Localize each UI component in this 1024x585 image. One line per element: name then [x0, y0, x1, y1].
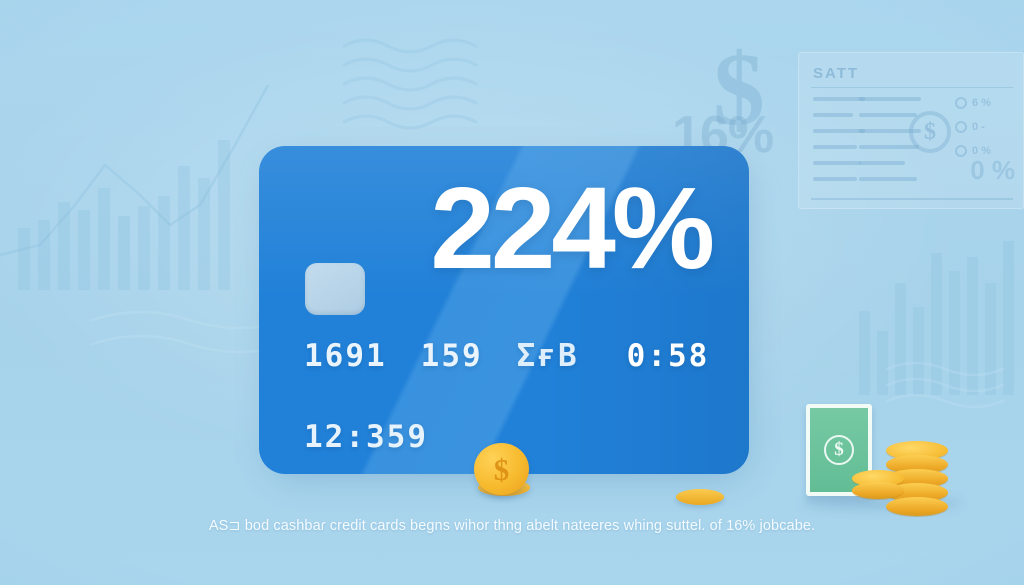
card-number-segment-4: 0:58	[627, 338, 710, 374]
card-chip-icon	[305, 263, 365, 315]
illustration-canvas: $ 16% SATT $ 6 %	[0, 0, 1024, 585]
report-panel-dollar-coin-icon: $	[909, 111, 951, 153]
background-report-panel: SATT $ 6 % 0 -	[798, 52, 1024, 209]
report-stat-value: 0 -	[972, 121, 985, 133]
card-number-segment-3: ƩғΒ	[517, 338, 579, 374]
card-number-row: 1691 159 ƩғΒ 0:58	[304, 338, 709, 374]
card-number-segment-1: 1691	[304, 338, 387, 374]
caption-text: AS⊐ bod cashbaɾ credit cards begns wihor…	[0, 518, 1024, 534]
report-panel-title: SATT	[813, 65, 859, 82]
card-number-segment-2: 159	[421, 338, 483, 374]
report-stat-row: 0 -	[955, 121, 1011, 133]
money-illustration: $	[800, 398, 968, 506]
card-headline-percent: 224%	[430, 170, 711, 286]
dollar-coin-icon: $	[474, 443, 529, 495]
banknote-dollar-symbol: $	[824, 435, 854, 465]
watermark-dollar-icon: $	[700, 42, 778, 138]
report-panel-footer-rule	[811, 198, 1013, 200]
donut-icon	[955, 121, 967, 133]
single-flat-coin-icon	[676, 489, 724, 505]
coin-stack-short	[852, 470, 904, 499]
credit-card: 224% 1691 159 ƩғΒ 0:58 12:359	[259, 146, 749, 474]
coin-disc	[886, 497, 948, 516]
background-wave-pattern-top	[340, 34, 480, 134]
card-secondary-row: 12:359	[304, 419, 428, 455]
donut-icon	[955, 145, 967, 157]
background-trend-line-left	[0, 85, 270, 285]
coin-disc	[852, 482, 904, 499]
report-stat-value: 6 %	[972, 97, 991, 109]
coin-dollar-symbol: $	[494, 454, 510, 485]
report-stat-row: 6 %	[955, 97, 1011, 109]
background-bar-chart-right	[855, 235, 1015, 395]
report-panel-big-stat: 0 %	[970, 155, 1015, 186]
donut-icon	[955, 97, 967, 109]
report-panel-divider	[811, 87, 1013, 88]
background-bar-chart-left	[10, 100, 260, 290]
